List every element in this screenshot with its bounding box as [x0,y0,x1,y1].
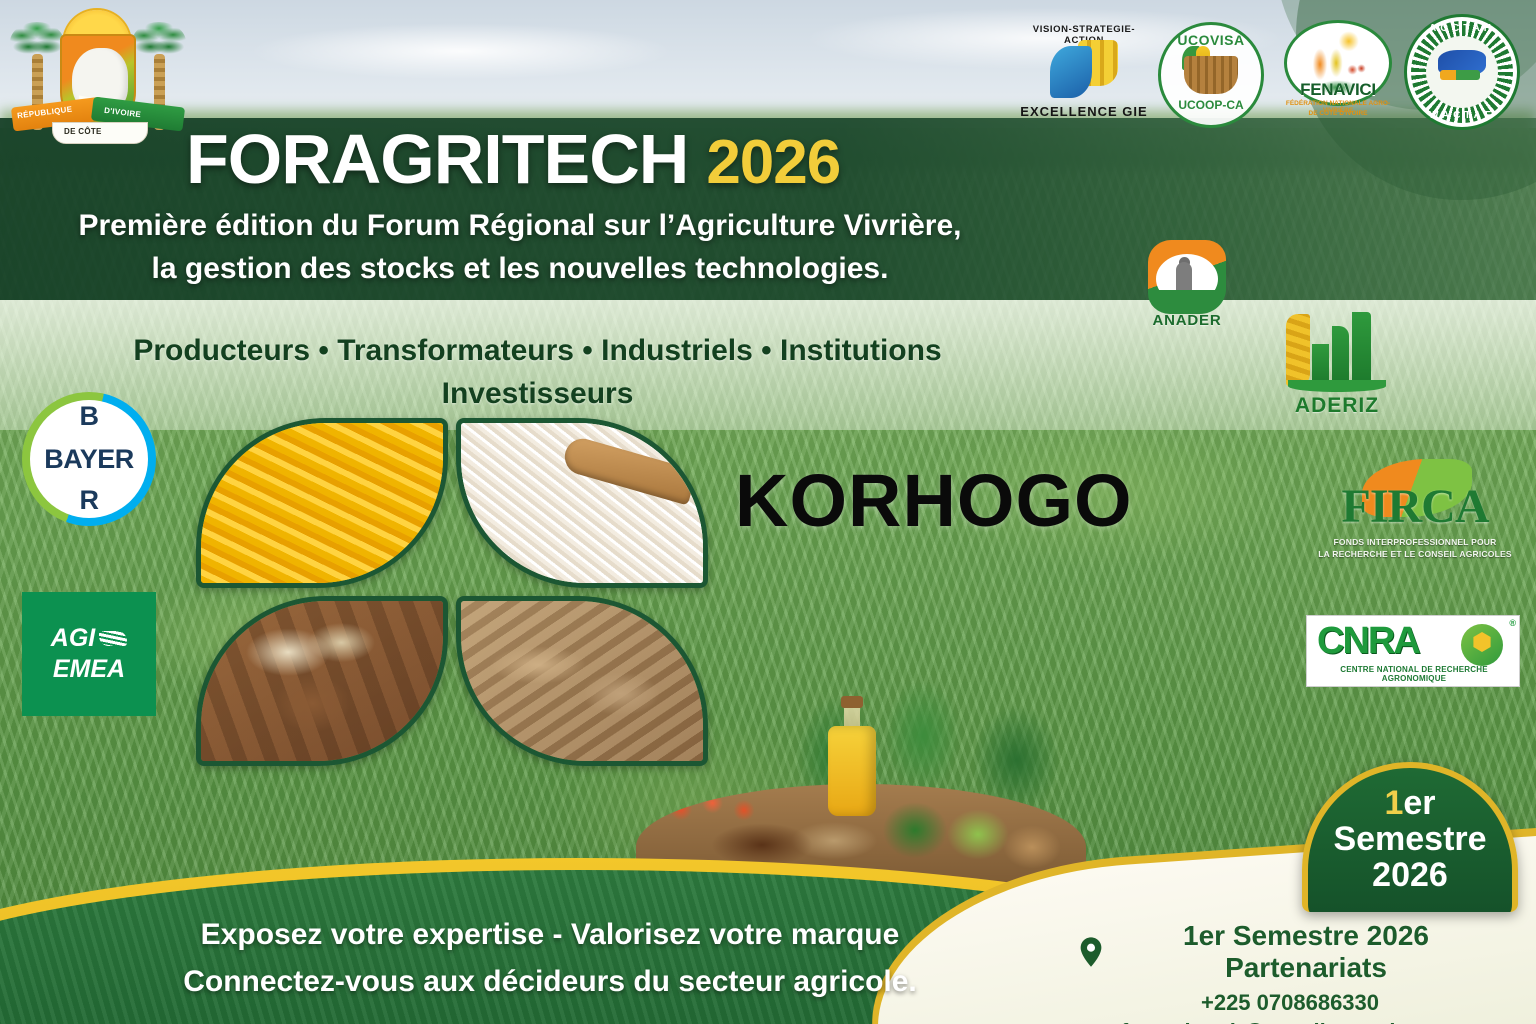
logo-ucovisa: UCOVISA UCOOP-CA [1158,22,1264,128]
logo-bayer: B R BAYER [22,392,156,526]
agi-line-1-row: AGI [51,624,127,653]
agi-emea-wordmark: EMEA [53,655,125,684]
call-to-action-block: Exposez votre expertise - Valorisez votr… [90,912,1010,1005]
aoctah-top-text: AOCTAH [1404,23,1520,34]
footer-phone[interactable]: +225 0708686330 [1080,990,1500,1016]
page-title: FORAGRITECH [186,124,688,194]
cnra-subtitle: CENTRE NATIONAL DE RECHERCHE AGRONOMIQUE [1307,665,1521,683]
photo-rice [456,418,708,588]
page-title-year: 2026 [706,132,840,194]
footer-date-partnership-text: 1er Semestre 2026 Partenariats [1112,920,1500,984]
audience-line-2: Investisseurs [0,373,1075,416]
cnra-emblem-icon [1461,624,1503,666]
fenavici-sub2: DE COTE D'IVOIRE [1278,110,1398,117]
photo-cassava-tubers [456,596,708,766]
map-pin-icon [1080,937,1102,967]
logo-firca: FIRCA FONDS INTERPROFESSIONNEL POUR LA R… [1310,465,1520,580]
logo-excellence-gie: VISION-STRATEGIE-ACTION EXCELLENCE GIE [1018,24,1150,132]
poster-subtitle: Première édition du Forum Régional sur l… [0,205,1040,290]
aderiz-wordmark: ADERIZ [1272,394,1402,418]
logo-anader: ANADER [1130,240,1244,338]
bayer-letter-r: R [80,488,99,514]
coat-of-arms-ribbon: RÉPUBLIQUE D'IVOIRE DE CÔTE [12,102,184,150]
oil-bottle-icon [828,696,876,816]
ucovisa-top-text: UCOVISA [1158,32,1264,48]
target-audience-block: Producteurs • Transformateurs • Industri… [0,330,1075,415]
excellence-gie-mark-icon [1050,40,1120,100]
bayer-letter-b: B [80,404,99,430]
hexagon-icon [1472,632,1492,652]
bayer-wordmark: BAYER [32,444,146,475]
footer-date-partnership-row: 1er Semestre 2026 Partenariats [1080,920,1500,984]
footer-email[interactable]: foragri-tech@excellencegie.com [1080,1019,1500,1024]
date-badge-ordinal: 1er [1384,786,1435,822]
poster-title-row: FORAGRITECH 2026 [186,124,840,194]
logo-cnra: CNRA ® CENTRE NATIONAL DE RECHERCHE AGRO… [1306,615,1520,687]
basket-icon [1184,56,1238,94]
host-city-label: KORHOGO [735,458,1133,543]
audience-line-1: Producteurs • Transformateurs • Industri… [0,330,1075,373]
crop-photo-cluster [196,418,708,766]
firca-sub2: LA RECHERCHE ET LE CONSEIL AGRICOLES [1310,549,1520,559]
aoctah-bottom-text: WACTAF [1404,110,1520,121]
wheat-icon [1286,314,1310,386]
subtitle-line-2: la gestion des stocks et les nouvelles t… [0,248,1040,291]
photo-hands-seeds [196,596,448,766]
date-badge-suffix: er [1403,784,1435,822]
logo-agi-emea: AGI EMEA [22,592,156,716]
firca-wordmark: FIRCA [1310,479,1520,534]
ribbon-center-text: DE CÔTE [64,127,102,136]
date-badge-year: 2026 [1372,858,1448,894]
logo-aderiz: ADERIZ [1272,310,1402,418]
flag-icon [1440,70,1480,80]
cnra-wordmark: CNRA [1317,620,1419,663]
ucovisa-bottom-text: UCOOP-CA [1158,98,1264,112]
photo-maize-corn [196,418,448,588]
swoosh-icon [99,631,127,646]
cta-line-2: Connectez-vous aux décideurs du secteur … [90,959,1010,1006]
agi-wordmark: AGI [51,624,95,653]
registered-trademark-icon: ® [1509,618,1516,628]
date-badge-number: 1 [1384,784,1403,822]
coat-of-arms-icon: RÉPUBLIQUE D'IVOIRE DE CÔTE [8,4,188,152]
fenavici-name: FENAVICI [1278,80,1398,100]
poster-root: RÉPUBLIQUE D'IVOIRE DE CÔTE VISION-STRAT… [0,0,1536,1024]
subtitle-line-1: Première édition du Forum Régional sur l… [0,205,1040,248]
date-badge-semester: Semestre [1333,822,1486,858]
footer-contact-block: 1er Semestre 2026 Partenariats +225 0708… [1080,920,1500,1024]
firca-sub1: FONDS INTERPROFESSIONNEL POUR [1310,537,1520,547]
excellence-gie-name: EXCELLENCE GIE [1018,104,1150,119]
cta-line-1: Exposez votre expertise - Valorisez votr… [90,912,1010,959]
logo-fenavici: FENAVICI FÉDÉRATION NATIONALE AGRO-VIVRI… [1278,20,1398,130]
logo-aoctah-wactaf: AOCTAH WACTAF [1404,14,1520,130]
anader-wordmark: ANADER [1130,312,1244,329]
